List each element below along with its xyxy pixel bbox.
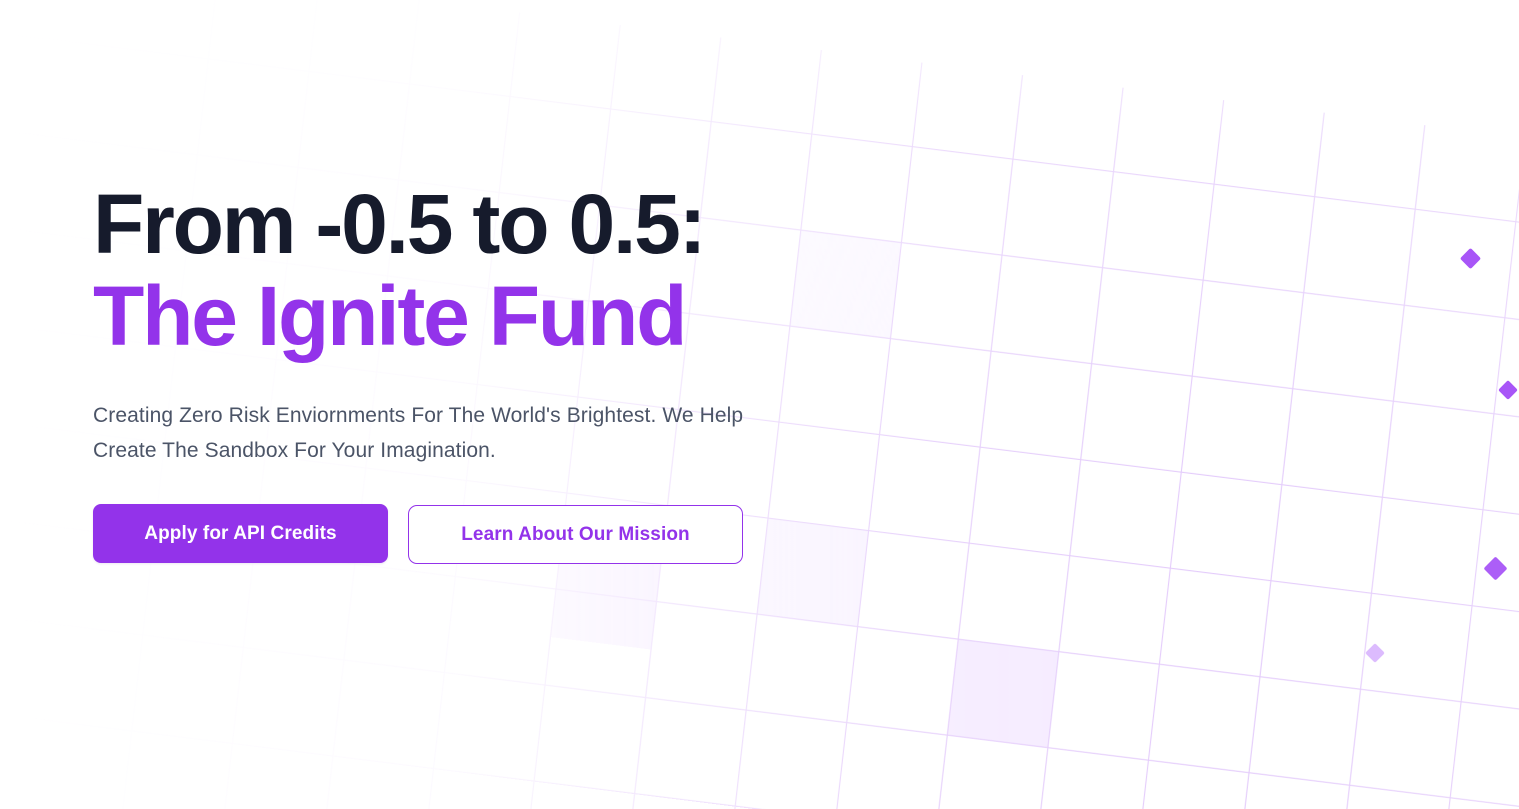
diamond-2-icon [1498, 380, 1518, 400]
cta-button-group: Apply for API Credits Learn About Our Mi… [93, 504, 873, 564]
diamond-3-icon [1483, 556, 1507, 580]
headline-line-2: The Ignite Fund [93, 270, 873, 362]
diamond-1-icon [1460, 248, 1481, 269]
page-title: From -0.5 to 0.5: The Ignite Fund [93, 178, 873, 362]
hero-content: From -0.5 to 0.5: The Ignite Fund Creati… [93, 178, 873, 564]
diamond-4-icon [1365, 643, 1385, 663]
hero-subtitle: Creating Zero Risk Enviornments For The … [93, 398, 793, 468]
learn-about-our-mission-button[interactable]: Learn About Our Mission [408, 505, 743, 564]
apply-for-api-credits-button[interactable]: Apply for API Credits [93, 504, 388, 563]
hero-section: From -0.5 to 0.5: The Ignite Fund Creati… [0, 0, 1519, 809]
headline-line-1: From -0.5 to 0.5: [93, 177, 704, 271]
